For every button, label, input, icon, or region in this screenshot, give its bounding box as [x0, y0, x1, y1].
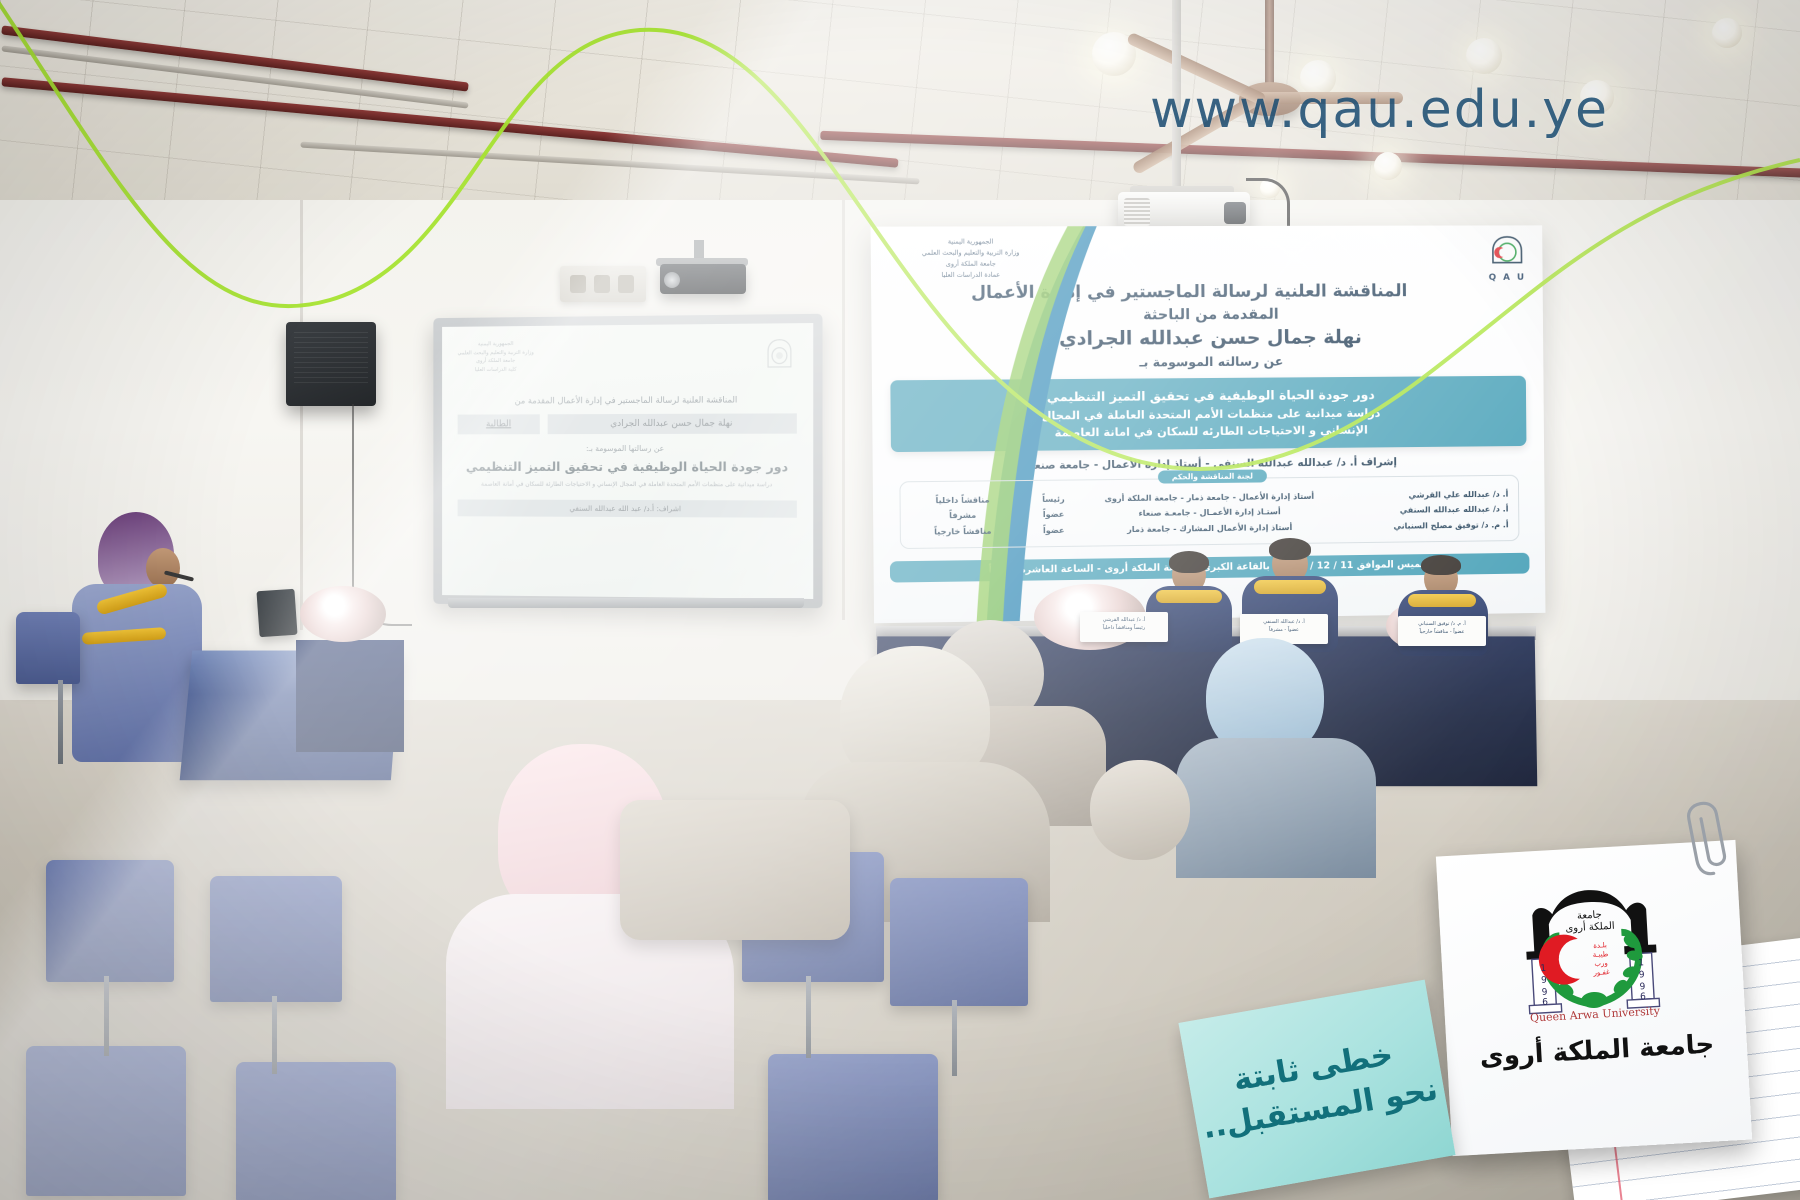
slide-topic-sub: دراسة ميدانية على منظمات الأمم المتحدة ا… — [458, 480, 797, 490]
committee-caption: لجنة المناقشة والحكم — [1158, 469, 1267, 483]
chair — [890, 878, 1028, 1006]
presenter-researcher — [72, 512, 202, 762]
slide-title: المناقشة العلنية لرسالة الماجستير في إدا… — [458, 394, 797, 406]
screenshot-root: الجمهورية اليمنية وزارة التربية والتعليم… — [0, 0, 1800, 1200]
banner-ministry-line: الجمهورية اليمنية — [885, 236, 1056, 247]
chair — [46, 860, 174, 982]
chair — [26, 1046, 186, 1196]
university-crest-icon — [762, 337, 797, 376]
slide-supervisor: اشراف: أ.د/ عبد الله عبدالله السنفي — [458, 499, 797, 517]
wall-seam — [300, 200, 303, 630]
svg-text:9: 9 — [1639, 970, 1646, 980]
committee-member-capacity: مشرفاً — [911, 508, 1014, 525]
svg-text:6: 6 — [1542, 998, 1549, 1008]
svg-text:بلـدة: بلـدة — [1593, 941, 1607, 950]
chair-leg — [272, 996, 277, 1074]
banner-ministry-line: وزارة التربية والتعليم والبحث العلمي — [885, 247, 1056, 258]
banner-ministry-line: عمادة الدراسات العليا — [885, 269, 1056, 281]
svg-text:1: 1 — [1638, 958, 1644, 968]
laptop — [256, 589, 297, 638]
committee-member-affiliation: أستاذ إدارة الأعمال المشارك - جامعة ذمار — [1093, 519, 1326, 537]
slide-ministry-line: وزارة التربية والتعليم والبحث العلمي — [458, 348, 534, 357]
banner-researcher-name: نهلة جمال حسن عبدالله الجرادي — [871, 325, 1543, 351]
ceiling-light — [1712, 18, 1742, 48]
committee-member-role: رئيساً — [1014, 491, 1093, 507]
presentation-slide: الجمهورية اليمنية وزارة التربية والتعليم… — [442, 323, 813, 599]
ceiling-light — [1466, 38, 1502, 74]
banner-presented-by: المقدمة من الباحثة — [871, 305, 1543, 324]
committee-member-name: أ. م. د/ توفيق مصلح السنباني — [1326, 517, 1509, 535]
flower-bouquet — [300, 586, 386, 642]
presenter-desk-side — [296, 640, 404, 752]
chair — [768, 1054, 938, 1200]
svg-text:جامعة: جامعة — [1577, 909, 1602, 921]
nameplate-line-1: أ. م. د/ توفيق السنباني — [1398, 621, 1486, 629]
audience-member — [1070, 760, 1220, 910]
chair-leg — [806, 976, 811, 1058]
banner-thesis-intro: عن رسالته الموسومة بـ — [872, 352, 1544, 371]
website-watermark: www.qau.edu.ye — [1150, 80, 1609, 140]
chair — [210, 876, 342, 1002]
chair-leg — [58, 680, 63, 764]
armchair — [620, 800, 850, 940]
svg-text:ورب: ورب — [1594, 959, 1608, 968]
slide-topic: دور جودة الحياة الوظيفية في تحقيق التميز… — [458, 459, 797, 474]
chair-leg — [952, 1000, 957, 1076]
wall-socket-plate — [560, 266, 646, 302]
committee-member-role: عضواً — [1014, 522, 1093, 538]
whiteboard-tray — [448, 598, 804, 608]
qau-crest-icon: Q A U — [1485, 235, 1528, 285]
committee-member-capacity: مناقشاً داخلياً — [911, 492, 1014, 509]
svg-text:طيبـة: طيبـة — [1593, 950, 1609, 959]
svg-text:9: 9 — [1639, 982, 1646, 992]
brand-arabic-name: جامعة الملكة أروى — [1479, 1029, 1715, 1072]
svg-text:9: 9 — [1541, 976, 1548, 986]
chair — [16, 612, 80, 684]
wall-seam — [842, 200, 845, 620]
av-control-box — [286, 322, 376, 406]
chair-leg — [104, 976, 109, 1056]
slide-student-label: الطالبة — [458, 414, 540, 434]
slide-student-name: نهلة جمال حسن عبدالله الجرادي — [548, 413, 797, 434]
nameplate: أ. م. د/ توفيق السنباني عضواً - مناقشاً … — [1398, 616, 1486, 646]
banner-ministry-line: جامعة الملكة أروى — [885, 258, 1056, 270]
svg-text:الملكة أروى: الملكة أروى — [1565, 919, 1615, 935]
svg-text:9: 9 — [1541, 988, 1548, 998]
banner-headline: المناقشة العلنية لرسالة الماجستير في إدا… — [871, 281, 1543, 304]
university-branding-card: بلـدة طيبـة ورب غفـور جامعة الملكة أروى … — [1436, 840, 1752, 1156]
svg-text:1: 1 — [1540, 964, 1546, 974]
nameplate-line-1: أ. د/ عبدالله السنفي — [1240, 619, 1328, 627]
slide-subtitle: عن رسالتها الموسومة بـ: — [458, 444, 797, 453]
queen-arwa-university-crest-icon: بلـدة طيبـة ورب غفـور جامعة الملكة أروى … — [1501, 877, 1683, 1032]
qau-crest-label: Q A U — [1486, 273, 1529, 283]
projection-whiteboard: الجمهورية اليمنية وزارة التربية والتعليم… — [433, 314, 822, 608]
nameplate-line-2: عضواً - مشرفاً — [1240, 627, 1328, 635]
committee-table: لجنة المناقشة والحكم أ. د/ عبدالله علي ا… — [899, 475, 1519, 549]
committee-member-role: عضواً — [1014, 507, 1093, 523]
nameplate-line-2: عضواً - مناقشاً خارجياً — [1398, 629, 1486, 637]
ceiling-light — [1374, 152, 1402, 180]
committee-member-capacity: مناقشاً خارجياً — [911, 523, 1014, 540]
slide-ministry-line: كلية الدراسات العليا — [458, 365, 534, 374]
projector-ceiling-mount — [648, 240, 758, 300]
svg-text:غفـور: غفـور — [1592, 968, 1610, 977]
svg-text:6: 6 — [1640, 992, 1647, 1002]
chair — [236, 1062, 396, 1200]
banner-topic-box: دور جودة الحياة الوظيفية في تحقيق التميز… — [890, 376, 1526, 452]
